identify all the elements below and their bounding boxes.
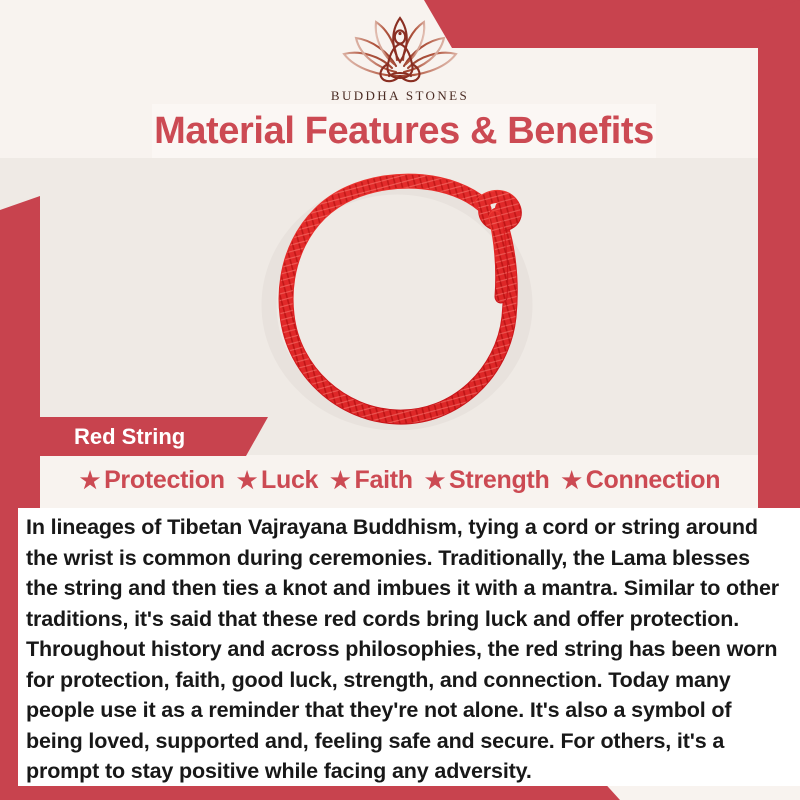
- star-icon: ★: [425, 469, 445, 492]
- feature-label: Faith: [355, 466, 413, 495]
- feature-label: Connection: [586, 466, 721, 495]
- feature-item-luck: ★ Luck: [237, 466, 318, 495]
- feature-item-faith: ★ Faith: [330, 466, 413, 495]
- product-name-label: Red String: [18, 417, 268, 456]
- lotus-meditation-icon: [326, 14, 474, 86]
- feature-label: Luck: [261, 466, 318, 495]
- feature-list: ★ Protection ★ Luck ★ Faith ★ Strength ★…: [18, 466, 782, 495]
- star-icon: ★: [330, 469, 350, 492]
- red-braided-string-bracelet: [245, 165, 555, 430]
- page-title: Material Features & Benefits: [152, 104, 656, 158]
- star-icon: ★: [561, 469, 581, 492]
- feature-label: Protection: [104, 466, 225, 495]
- star-icon: ★: [80, 469, 100, 492]
- brand-logo: BUDDHA STONES: [0, 14, 800, 104]
- poster-root: BUDDHA STONES Material Features & Benefi…: [0, 0, 800, 800]
- brand-wordmark: BUDDHA STONES: [331, 88, 469, 104]
- feature-item-protection: ★ Protection: [80, 466, 225, 495]
- star-icon: ★: [237, 469, 257, 492]
- feature-item-strength: ★ Strength: [425, 466, 550, 495]
- feature-label: Strength: [449, 466, 549, 495]
- description-text: In lineages of Tibetan Vajrayana Buddhis…: [26, 512, 782, 787]
- feature-item-connection: ★ Connection: [561, 466, 720, 495]
